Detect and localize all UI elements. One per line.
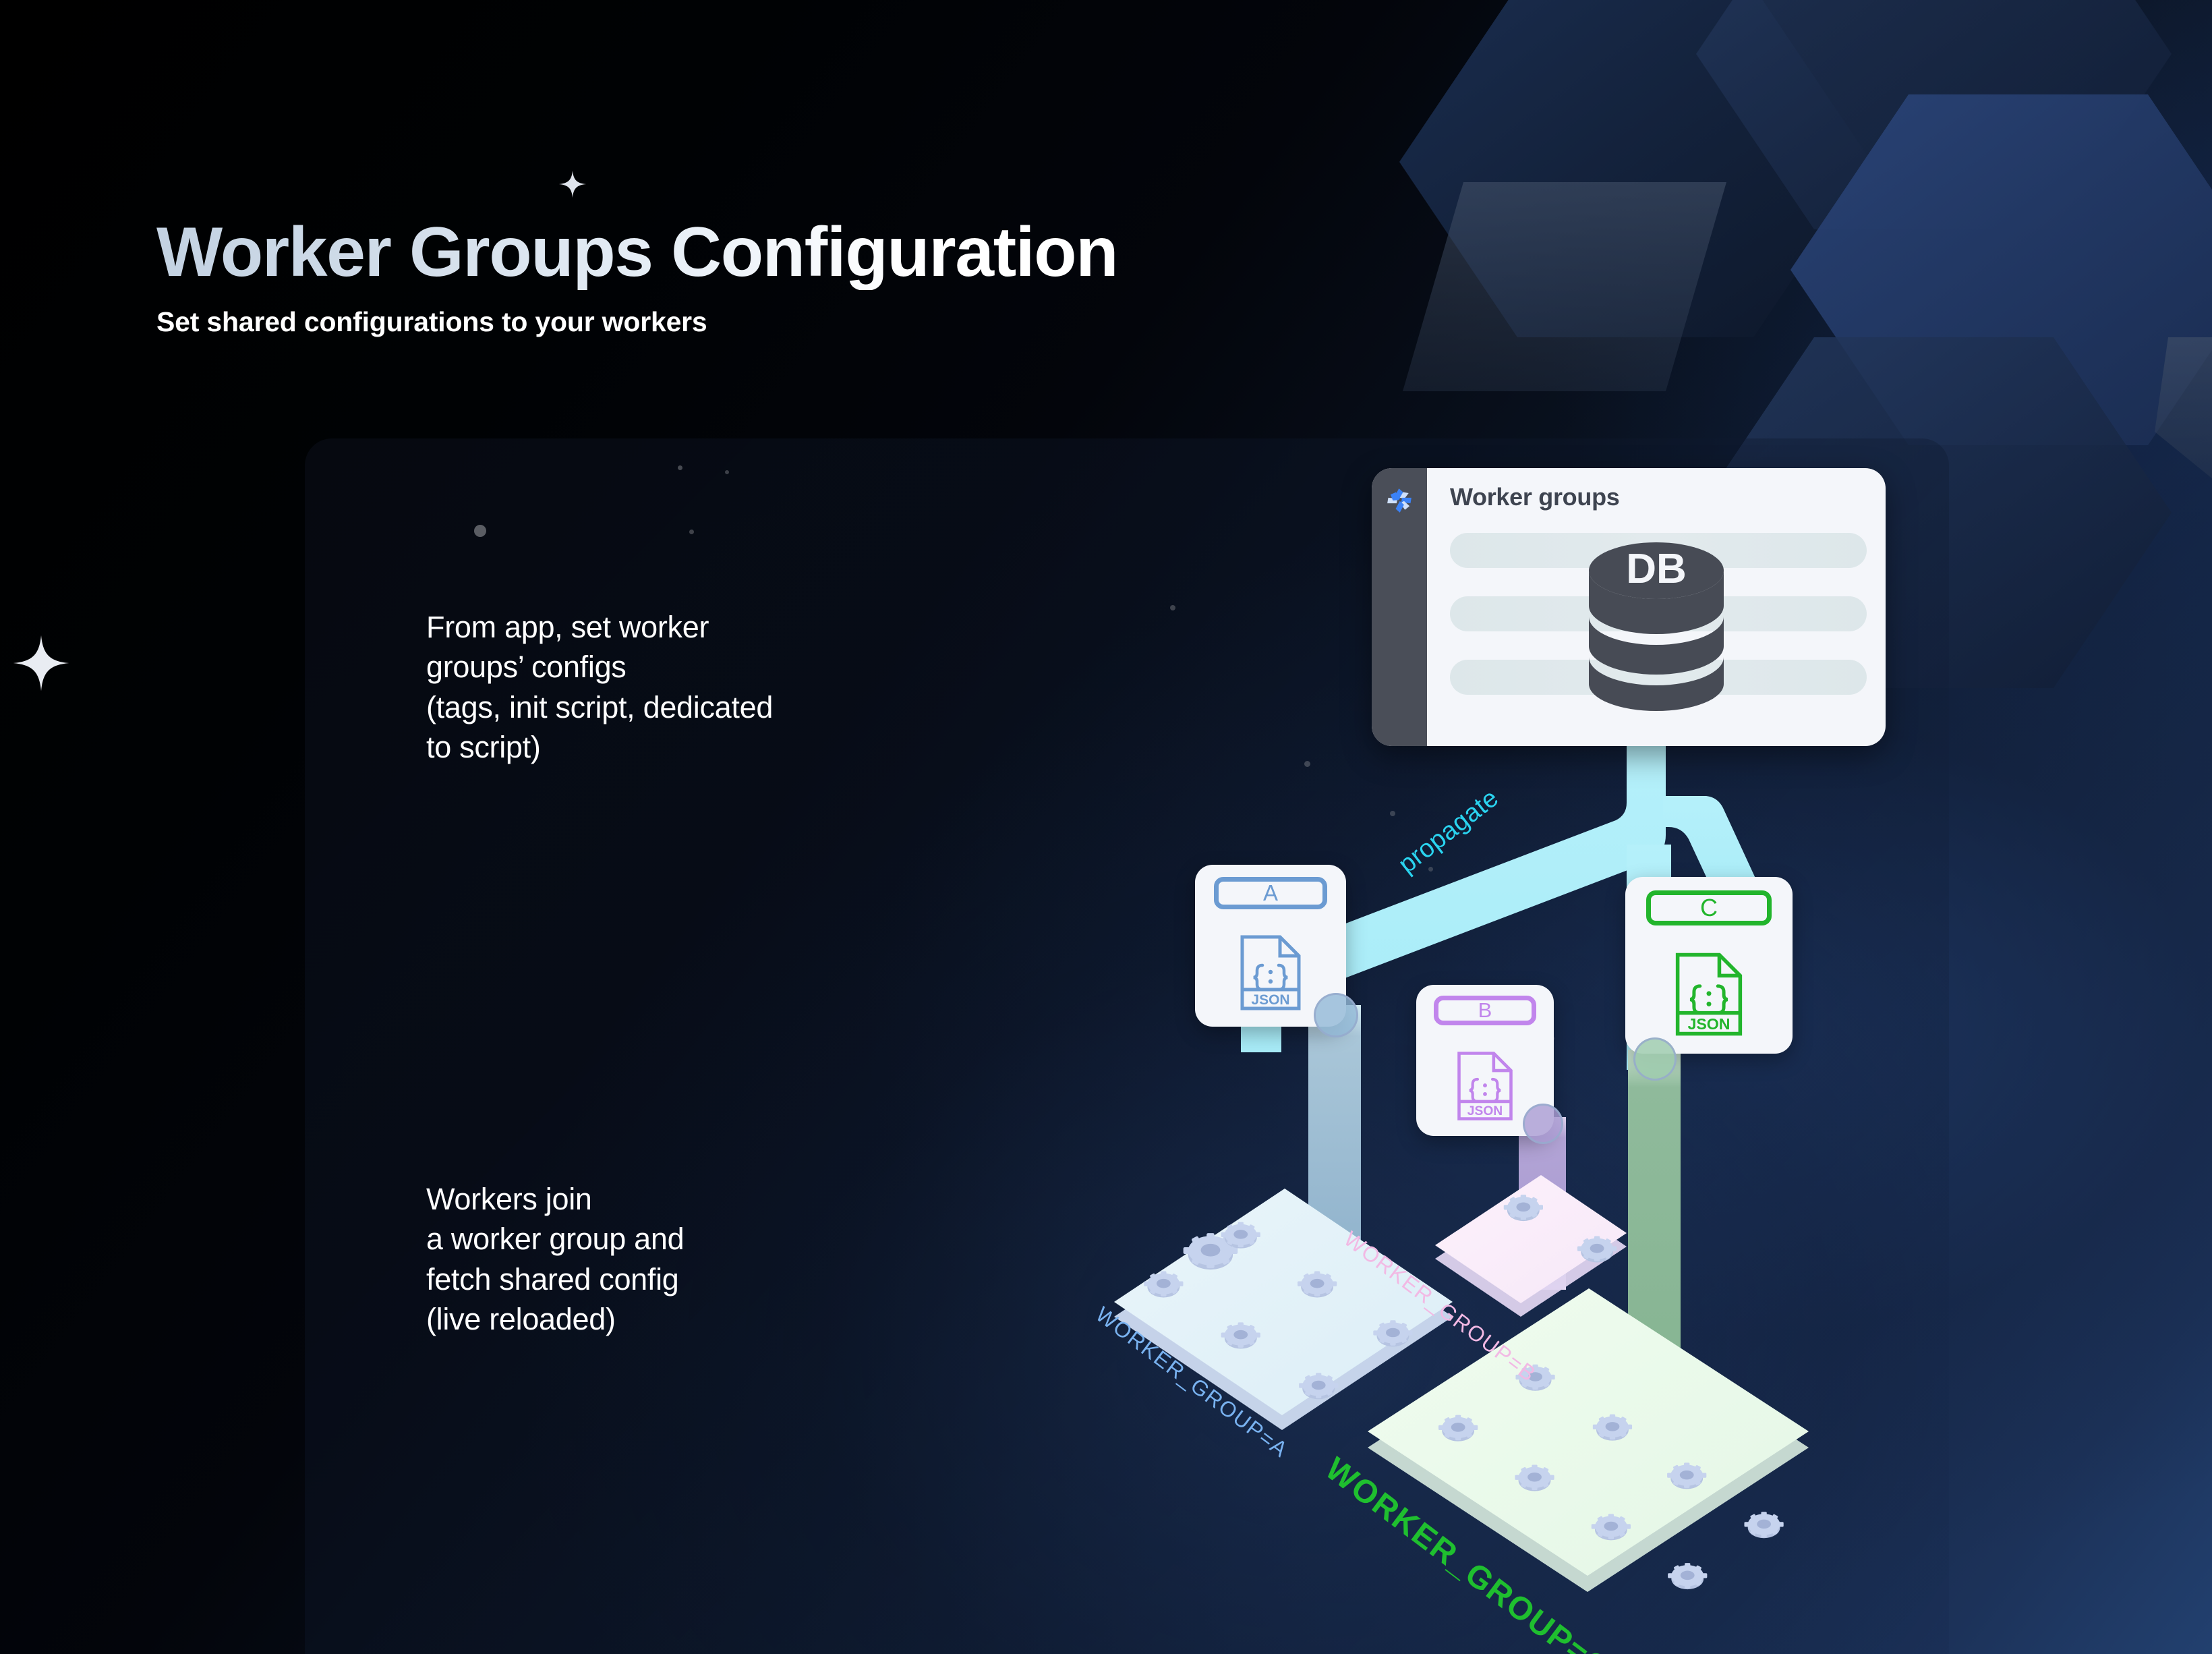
json-file-icon: JSON — [1238, 934, 1303, 1015]
worker-groups-card[interactable]: Worker groups DB — [1372, 468, 1886, 746]
group-badge-a: A — [1214, 877, 1327, 909]
worker-groups-card-title: Worker groups — [1450, 483, 1865, 511]
socket-connector-c — [1633, 1037, 1677, 1081]
windmill-pinwheel-icon — [1385, 486, 1414, 515]
socket-connector-b — [1523, 1104, 1563, 1144]
worker-platforms — [0, 0, 2212, 1654]
group-badge-b: B — [1434, 996, 1536, 1025]
json-file-label: JSON — [1251, 992, 1289, 1008]
database-label: DB — [1626, 546, 1687, 592]
platform-group-a — [1114, 1189, 1453, 1430]
json-file-label: JSON — [1687, 1015, 1730, 1033]
group-badge-c: C — [1646, 890, 1772, 925]
socket-connector-a — [1314, 993, 1358, 1037]
json-file-label: JSON — [1467, 1104, 1503, 1118]
card-sidebar-rail — [1372, 468, 1427, 746]
database-icon: DB — [1586, 541, 1726, 711]
group-card-c[interactable]: C JSON — [1625, 877, 1793, 1054]
json-file-icon: JSON — [1673, 952, 1745, 1040]
json-file-icon: JSON — [1455, 1050, 1515, 1125]
